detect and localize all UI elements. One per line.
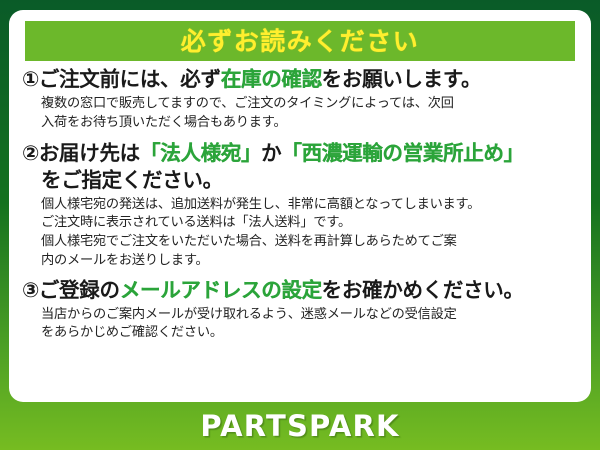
subtext-line: 当店からのご案内メールが受け取れるよう、迷惑メールなどの受信設定	[41, 306, 579, 325]
subtext-line: をあらかじめご確認ください。	[41, 324, 579, 343]
item-subtext: 複数の窓口で販売してますので、ご注文のタイミングによっては、次回 入荷をお待ち頂…	[22, 93, 579, 132]
item-subtext: 当店からのご案内メールが受け取れるよう、迷惑メールなどの受信設定 をあらかじめご…	[22, 304, 579, 343]
item-subtext: 個人様宅宛の発送は、追加送料が発生し、非常に高額となってしまいます。 ご注文時に…	[22, 194, 579, 271]
subtext-line: 個人様宅宛の発送は、追加送料が発生し、非常に高額となってしまいます。	[41, 196, 579, 215]
item-heading-highlight: 「西濃運輸の営業所止め」	[281, 141, 523, 165]
notice-list: ①ご注文前には、必ず在庫の確認をお願いします。 複数の窓口で販売してますので、ご…	[9, 66, 591, 346]
brand-logo-text: PARTSPARK	[200, 409, 399, 443]
item-heading: ①ご注文前には、必ず在庫の確認をお願いします。	[22, 66, 579, 93]
item-heading-part: ご登録の	[39, 278, 120, 302]
notice-card: 必ずお読みください ①ご注文前には、必ず在庫の確認をお願いします。 複数の窓口で…	[9, 10, 591, 402]
item-heading: ②お届け先は「法人様宛」か「西濃運輸の営業所止め」をご指定ください。	[22, 140, 579, 194]
subtext-line: 内のメールをお送りします。	[41, 252, 579, 271]
item-heading-highlight: 在庫の確認	[221, 67, 322, 91]
item-heading: ③ご登録のメールアドレスの設定をお確かめください。	[22, 277, 579, 304]
item-heading-second-line: をご指定ください。	[22, 167, 579, 194]
item-heading-part: をお確かめください。	[322, 278, 524, 302]
item-heading-part: をお願いします。	[322, 67, 482, 91]
item-marker: ②	[22, 141, 39, 165]
subtext-line: 個人様宅宛でご注文をいただいた場合、送料を再計算しあらためてご案	[41, 233, 579, 252]
subtext-line: ご注文時に表示されている送料は「法人送料」です。	[41, 214, 579, 233]
subtext-line: 複数の窓口で販売してますので、ご注文のタイミングによっては、次回	[41, 95, 579, 114]
footer-band: PARTSPARK	[0, 402, 600, 450]
list-item: ①ご注文前には、必ず在庫の確認をお願いします。 複数の窓口で販売してますので、ご…	[22, 66, 579, 133]
list-item: ②お届け先は「法人様宛」か「西濃運輸の営業所止め」をご指定ください。 個人様宅宛…	[22, 140, 579, 271]
item-heading-highlight: 「法人様宛」	[140, 141, 261, 165]
item-heading-part: か	[261, 141, 281, 165]
list-item: ③ご登録のメールアドレスの設定をお確かめください。 当店からのご案内メールが受け…	[22, 277, 579, 344]
item-marker: ③	[22, 278, 39, 302]
title-bar: 必ずお読みください	[25, 21, 575, 61]
subtext-line: 入荷をお待ち頂いただく場合もあります。	[41, 114, 579, 133]
item-heading-highlight: メールアドレスの設定	[120, 278, 322, 302]
banner-title: 必ずお読みください	[181, 29, 420, 54]
item-heading-part: ご注文前には、必ず	[39, 67, 221, 91]
item-marker: ①	[22, 67, 39, 91]
notice-banner: 必ずお読みください ①ご注文前には、必ず在庫の確認をお願いします。 複数の窓口で…	[0, 0, 600, 450]
item-heading-part: お届け先は	[39, 141, 140, 165]
